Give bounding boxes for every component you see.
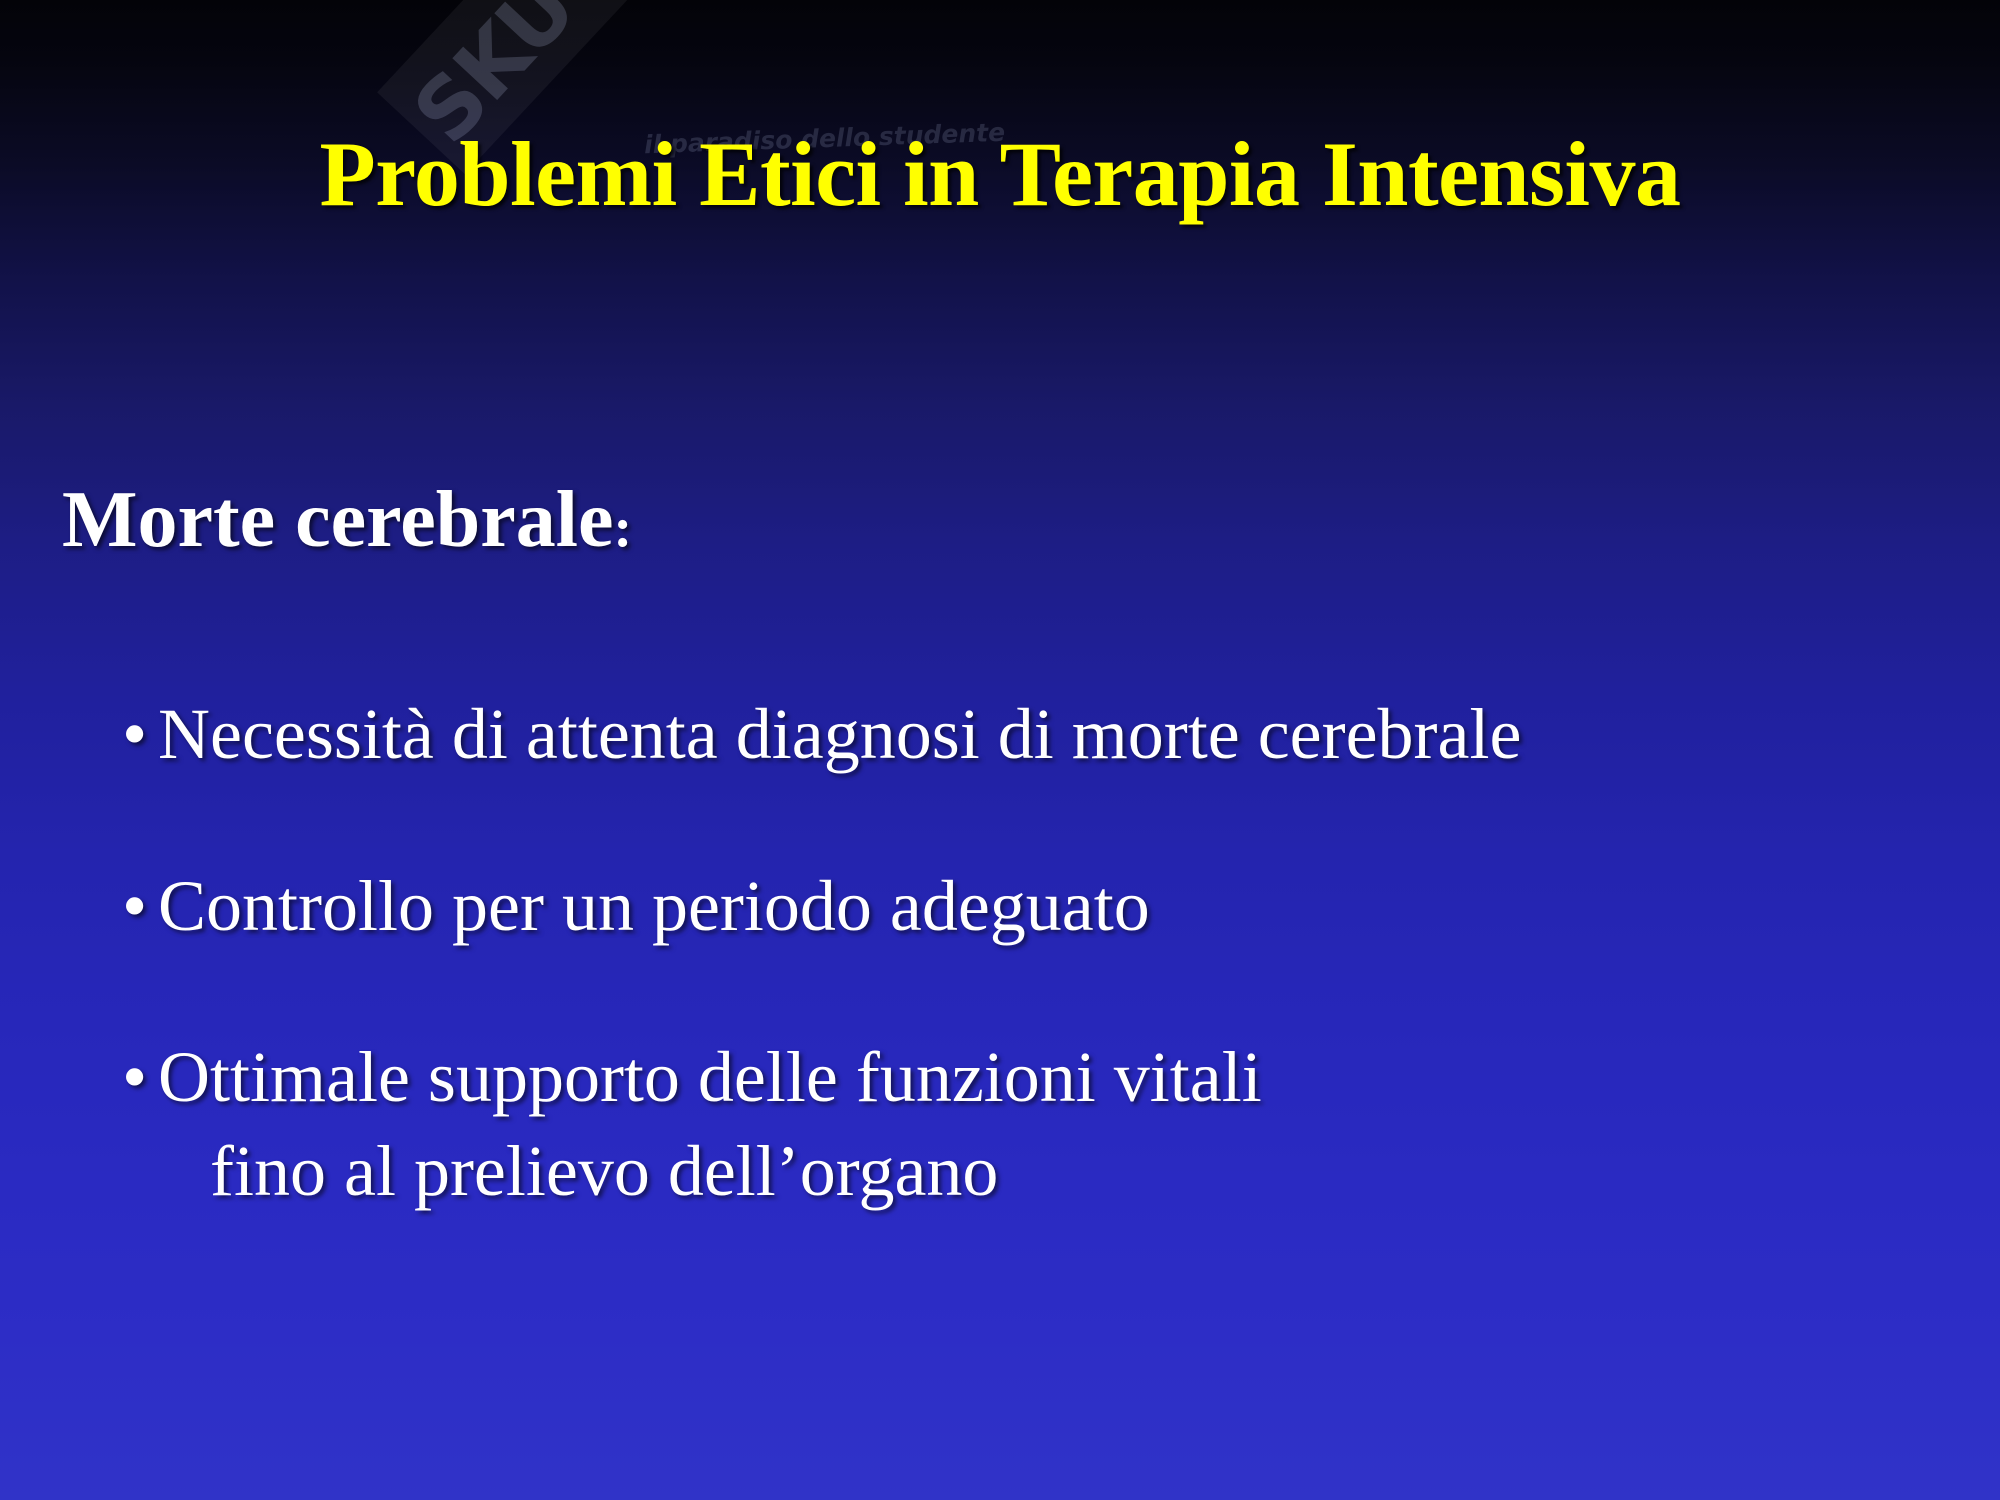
- bullet-text-3: Ottimale supporto delle funzioni vitali: [158, 1031, 2000, 1125]
- bullet-marker-icon: •: [122, 860, 147, 954]
- bullet-list: • Necessità di attenta diagnosi di morte…: [0, 688, 2000, 1218]
- section-heading-label: Morte cerebrale: [62, 476, 613, 564]
- section-heading: Morte cerebrale:: [62, 478, 632, 562]
- slide-title: Problemi Etici in Terapia Intensiva: [0, 126, 2000, 224]
- presentation-slide: SKUOLA il paradiso dello studente Proble…: [0, 0, 2000, 1500]
- bullet-text-2: Controllo per un periodo adeguato: [158, 860, 2000, 954]
- bullet-marker-icon: •: [122, 1031, 147, 1125]
- bullet-text-3-continuation: fino al prelievo dell’organo: [158, 1125, 2000, 1219]
- bullet-marker-icon: •: [122, 688, 147, 782]
- bullet-item-1: • Necessità di attenta diagnosi di morte…: [0, 688, 2000, 782]
- bullet-item-2: • Controllo per un periodo adeguato: [0, 860, 2000, 954]
- slide-content: Problemi Etici in Terapia Intensiva Mort…: [0, 0, 2000, 1500]
- section-heading-colon: :: [613, 497, 632, 559]
- bullet-text-1: Necessità di attenta diagnosi di morte c…: [158, 688, 2000, 782]
- bullet-item-3: • Ottimale supporto delle funzioni vital…: [0, 1031, 2000, 1218]
